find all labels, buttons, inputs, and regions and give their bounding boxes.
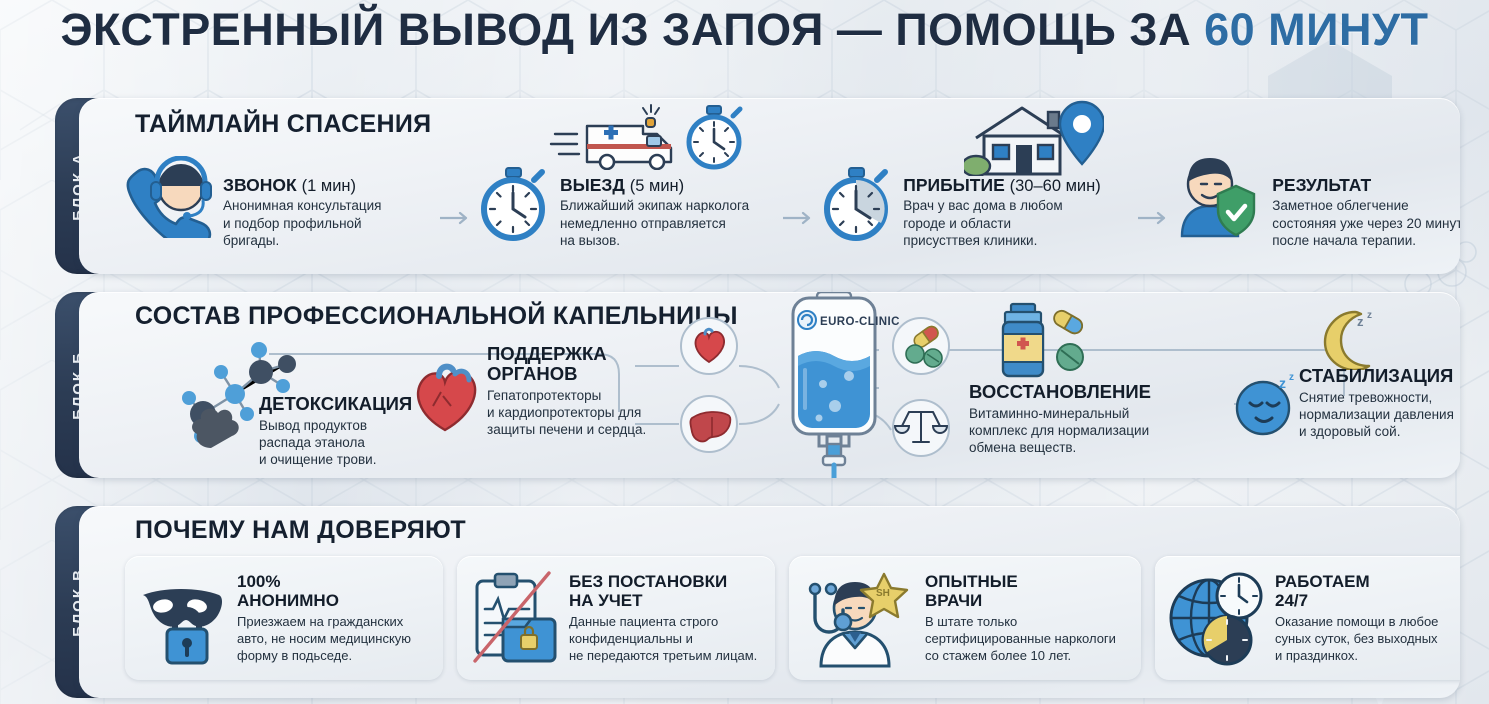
card-no-registration-body: Данные пациента строго конфиденциальны и…	[569, 614, 757, 665]
card-no-registration-head: БЕЗ ПОСТАНОВКИ НА УЧЕТ	[569, 573, 757, 610]
page-title: ЭКСТРЕННЫЙ ВЫВОД ИЗ ЗАПОЯ — ПОМОЩЬ ЗА 60…	[0, 4, 1489, 56]
item-stabilization-head: СТАБИЛИЗАЦИЯ	[1299, 366, 1460, 386]
phone-headset-icon	[119, 156, 215, 238]
heart-icon	[679, 316, 739, 376]
sleeping-face-icon: z z	[1229, 372, 1301, 438]
block-c: БЛОК В ПОЧЕМУ НАМ ДОВЕРЯЮТ 100% АНОНИМНО…	[55, 506, 1460, 698]
item-recovery-head: ВОССТАНОВЛЕНИЕ	[969, 382, 1269, 402]
card-experienced-doctors-head: ОПЫТНЫЕ ВРАЧИ	[925, 573, 1116, 610]
svg-text:z: z	[1367, 310, 1372, 321]
item-organs-body: Гепатопротекторы и кардиопротекторы для …	[487, 387, 659, 439]
card-no-registration-text: БЕЗ ПОСТАНОВКИ НА УЧЕТ Данные пациента с…	[569, 571, 757, 664]
doctor-star-badge-text: SH	[876, 588, 890, 599]
stopwatch-icon	[474, 164, 552, 242]
item-recovery-body: Витаминно-минеральный комплекс для норма…	[969, 405, 1269, 457]
patient-shield-icon	[1172, 152, 1264, 238]
svg-text:z: z	[1357, 314, 1364, 329]
medicine-bottle-pills-icon	[989, 300, 1105, 380]
card-24-7-body: Оказание помощи в любое суных суток, без…	[1275, 614, 1438, 665]
stopwatch-icon	[817, 164, 895, 242]
step-arrival-body: Врач у вас дома в любом городе и области…	[903, 197, 1101, 249]
card-anonymous[interactable]: 100% АНОНИМНО Приезжаем на гражданских а…	[125, 556, 443, 680]
block-a-title: ТАЙМЛАЙН СПАСЕНИЯ	[135, 110, 431, 139]
step-call-text: ЗВОНОК (1 мин) Анонимная консультация и …	[223, 150, 381, 249]
step-departure: ВЫЕЗД (5 мин) Ближайший экипаж нарколога…	[474, 150, 783, 249]
svg-text:z: z	[1279, 375, 1286, 391]
step-departure-text: ВЫЕЗД (5 мин) Ближайший экипаж нарколога…	[560, 150, 749, 249]
clipboard-crossed-icon	[467, 569, 563, 667]
block-b-panel: СОСТАВ ПРОФЕССИОНАЛЬНОЙ КАПЕЛЬНИЦЫ	[79, 292, 1460, 478]
item-organs-head: ПОДДЕРЖКА ОРГАНОВ	[487, 344, 659, 384]
block-a-steps: ЗВОНОК (1 мин) Анонимная консультация и …	[119, 150, 1460, 270]
iv-bag-logo-text: EURO-CLINIC	[820, 316, 899, 328]
liver-icon	[679, 394, 739, 454]
block-a: БЛОК А ТАЙМЛАЙН СПАСЕНИЯ	[55, 98, 1460, 274]
step-call-body: Анонимная консультация и подбор профильн…	[223, 197, 381, 249]
item-stabilization-body: Снятие тревожности, нормализации давлени…	[1299, 389, 1460, 441]
page-title-accent: 60 МИНУТ	[1204, 4, 1428, 55]
step-arrival: ПРИБЫТИЕ (30–60 мин) Врач у вас дома в л…	[817, 150, 1138, 249]
step-departure-body: Ближайший экипаж нарколога немедленно от…	[560, 197, 749, 249]
block-a-panel: ТАЙМЛАЙН СПАСЕНИЯ	[79, 98, 1460, 274]
moon-sleep-icon: z z	[1311, 306, 1381, 370]
step-arrival-text: ПРИБЫТИЕ (30–60 мин) Врач у вас дома в л…	[903, 150, 1101, 249]
iv-bag: EURO-CLINIC	[779, 292, 899, 478]
card-experienced-doctors-text: ОПЫТНЫЕ ВРАЧИ В штате только сертифициро…	[925, 571, 1116, 664]
page-title-main: ЭКСТРЕННЫЙ ВЫВОД ИЗ ЗАПОЯ — ПОМОЩЬ ЗА	[61, 4, 1205, 55]
arrow-right-icon	[1138, 211, 1172, 230]
item-recovery: ВОССТАНОВЛЕНИЕ Витаминно-минеральный ком…	[969, 300, 1269, 457]
item-stabilization: z z СТАБИЛИЗАЦИЯ Снятие тревожности, нор…	[1229, 366, 1460, 441]
step-result-head: РЕЗУЛЬТАТ	[1272, 176, 1460, 195]
card-anonymous-text: 100% АНОНИМНО Приезжаем на гражданских а…	[237, 571, 411, 664]
trust-cards: 100% АНОНИМНО Приезжаем на гражданских а…	[125, 556, 1460, 680]
block-c-title: ПОЧЕМУ НАМ ДОВЕРЯЮТ	[135, 516, 466, 545]
scales-icon	[891, 398, 951, 458]
card-experienced-doctors[interactable]: SH ОПЫТНЫЕ ВРАЧИ В штате только сертифиц…	[789, 556, 1141, 680]
card-24-7-head: РАБОТАЕМ 24/7	[1275, 573, 1438, 610]
step-arrival-head: ПРИБЫТИЕ (30–60 мин)	[903, 176, 1101, 195]
iv-drip-icon: EURO-CLINIC	[779, 292, 899, 478]
pills-icon	[891, 316, 951, 376]
card-anonymous-head: 100% АНОНИМНО	[237, 573, 411, 610]
svg-text:z: z	[1289, 372, 1294, 383]
globe-clock-icon	[1165, 568, 1269, 668]
arrow-right-icon	[440, 211, 474, 230]
card-24-7[interactable]: РАБОТАЕМ 24/7 Оказание помощи в любое су…	[1155, 556, 1460, 680]
doctor-star-icon: SH	[799, 566, 919, 670]
block-c-panel: ПОЧЕМУ НАМ ДОВЕРЯЮТ 100% АНОНИМНО Приезж…	[79, 506, 1460, 698]
step-result-text: РЕЗУЛЬТАТ Заметное облегчение состояняя …	[1272, 150, 1460, 249]
card-24-7-text: РАБОТАЕМ 24/7 Оказание помощи в любое су…	[1275, 571, 1438, 664]
step-call: ЗВОНОК (1 мин) Анонимная консультация и …	[119, 150, 440, 249]
molecule-icon	[175, 328, 305, 456]
arrow-right-icon	[783, 211, 817, 230]
mask-lock-icon	[135, 569, 231, 667]
step-result-body: Заметное облегчение состояняя уже через …	[1272, 197, 1460, 249]
step-call-head: ЗВОНОК (1 мин)	[223, 176, 381, 195]
heart-organ-icon	[409, 358, 481, 434]
step-result: РЕЗУЛЬТАТ Заметное облегчение состояняя …	[1172, 150, 1460, 249]
card-no-registration[interactable]: БЕЗ ПОСТАНОВКИ НА УЧЕТ Данные пациента с…	[457, 556, 775, 680]
block-b: БЛОК Б СОСТАВ ПРОФЕССИОНАЛЬНОЙ КАПЕЛЬНИЦ…	[55, 292, 1460, 478]
item-organs: ПОДДЕРЖКА ОРГАНОВ Гепатопротекторы и кар…	[409, 344, 659, 438]
card-experienced-doctors-body: В штате только сертифицированные нарколо…	[925, 614, 1116, 665]
card-anonymous-body: Приезжаем на гражданских авто, не носим …	[237, 614, 411, 665]
step-departure-head: ВЫЕЗД (5 мин)	[560, 176, 749, 195]
